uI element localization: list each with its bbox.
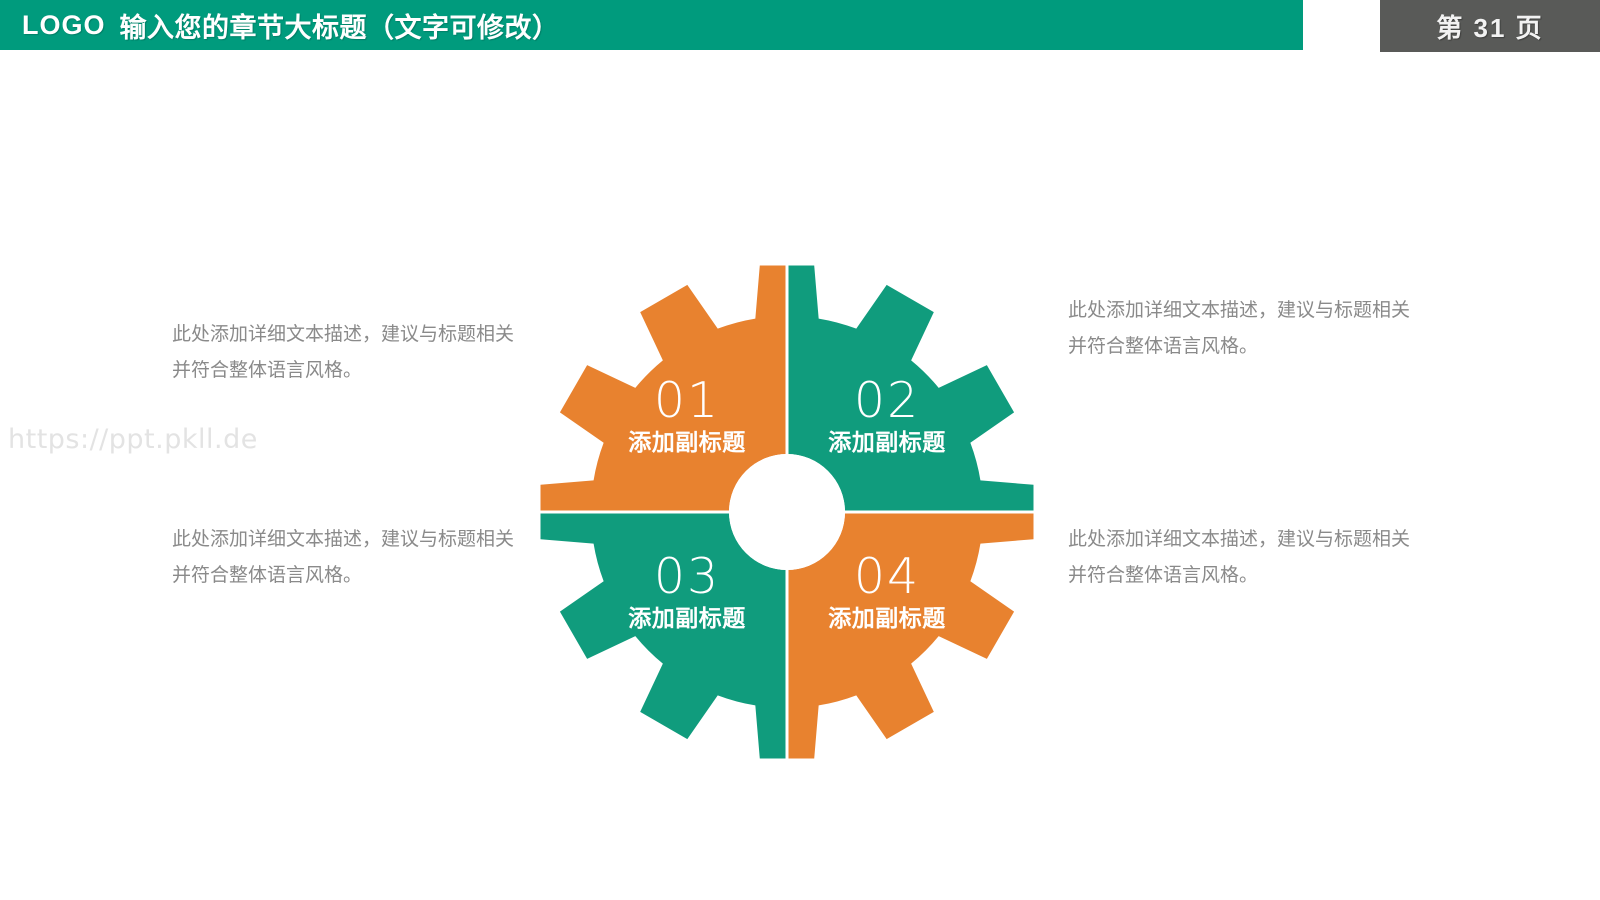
gear-diagram: 01 添加副标题 02 添加副标题 03 添加副标题 04 添加副标题 xyxy=(537,262,1037,762)
description-bottom-left: 此处添加详细文本描述，建议与标题相关并符合整体语言风格。 xyxy=(172,521,517,593)
gear-shape xyxy=(537,262,1037,762)
description-bottom-right: 此处添加详细文本描述，建议与标题相关并符合整体语言风格。 xyxy=(1068,521,1413,593)
description-top-right: 此处添加详细文本描述，建议与标题相关并符合整体语言风格。 xyxy=(1068,292,1413,364)
page-number-label: 第 31 页 xyxy=(1436,8,1543,45)
description-top-left: 此处添加详细文本描述，建议与标题相关并符合整体语言风格。 xyxy=(172,316,517,388)
page-title: 输入您的章节大标题（文字可修改） xyxy=(120,6,560,45)
watermark-url: https://ppt.pkll.de xyxy=(8,424,258,455)
header-bar: LOGO 输入您的章节大标题（文字可修改） xyxy=(0,0,1303,50)
logo-text: LOGO xyxy=(22,10,106,41)
gear-center-hub xyxy=(729,454,845,570)
page-number-badge: 第 31 页 xyxy=(1380,0,1600,52)
